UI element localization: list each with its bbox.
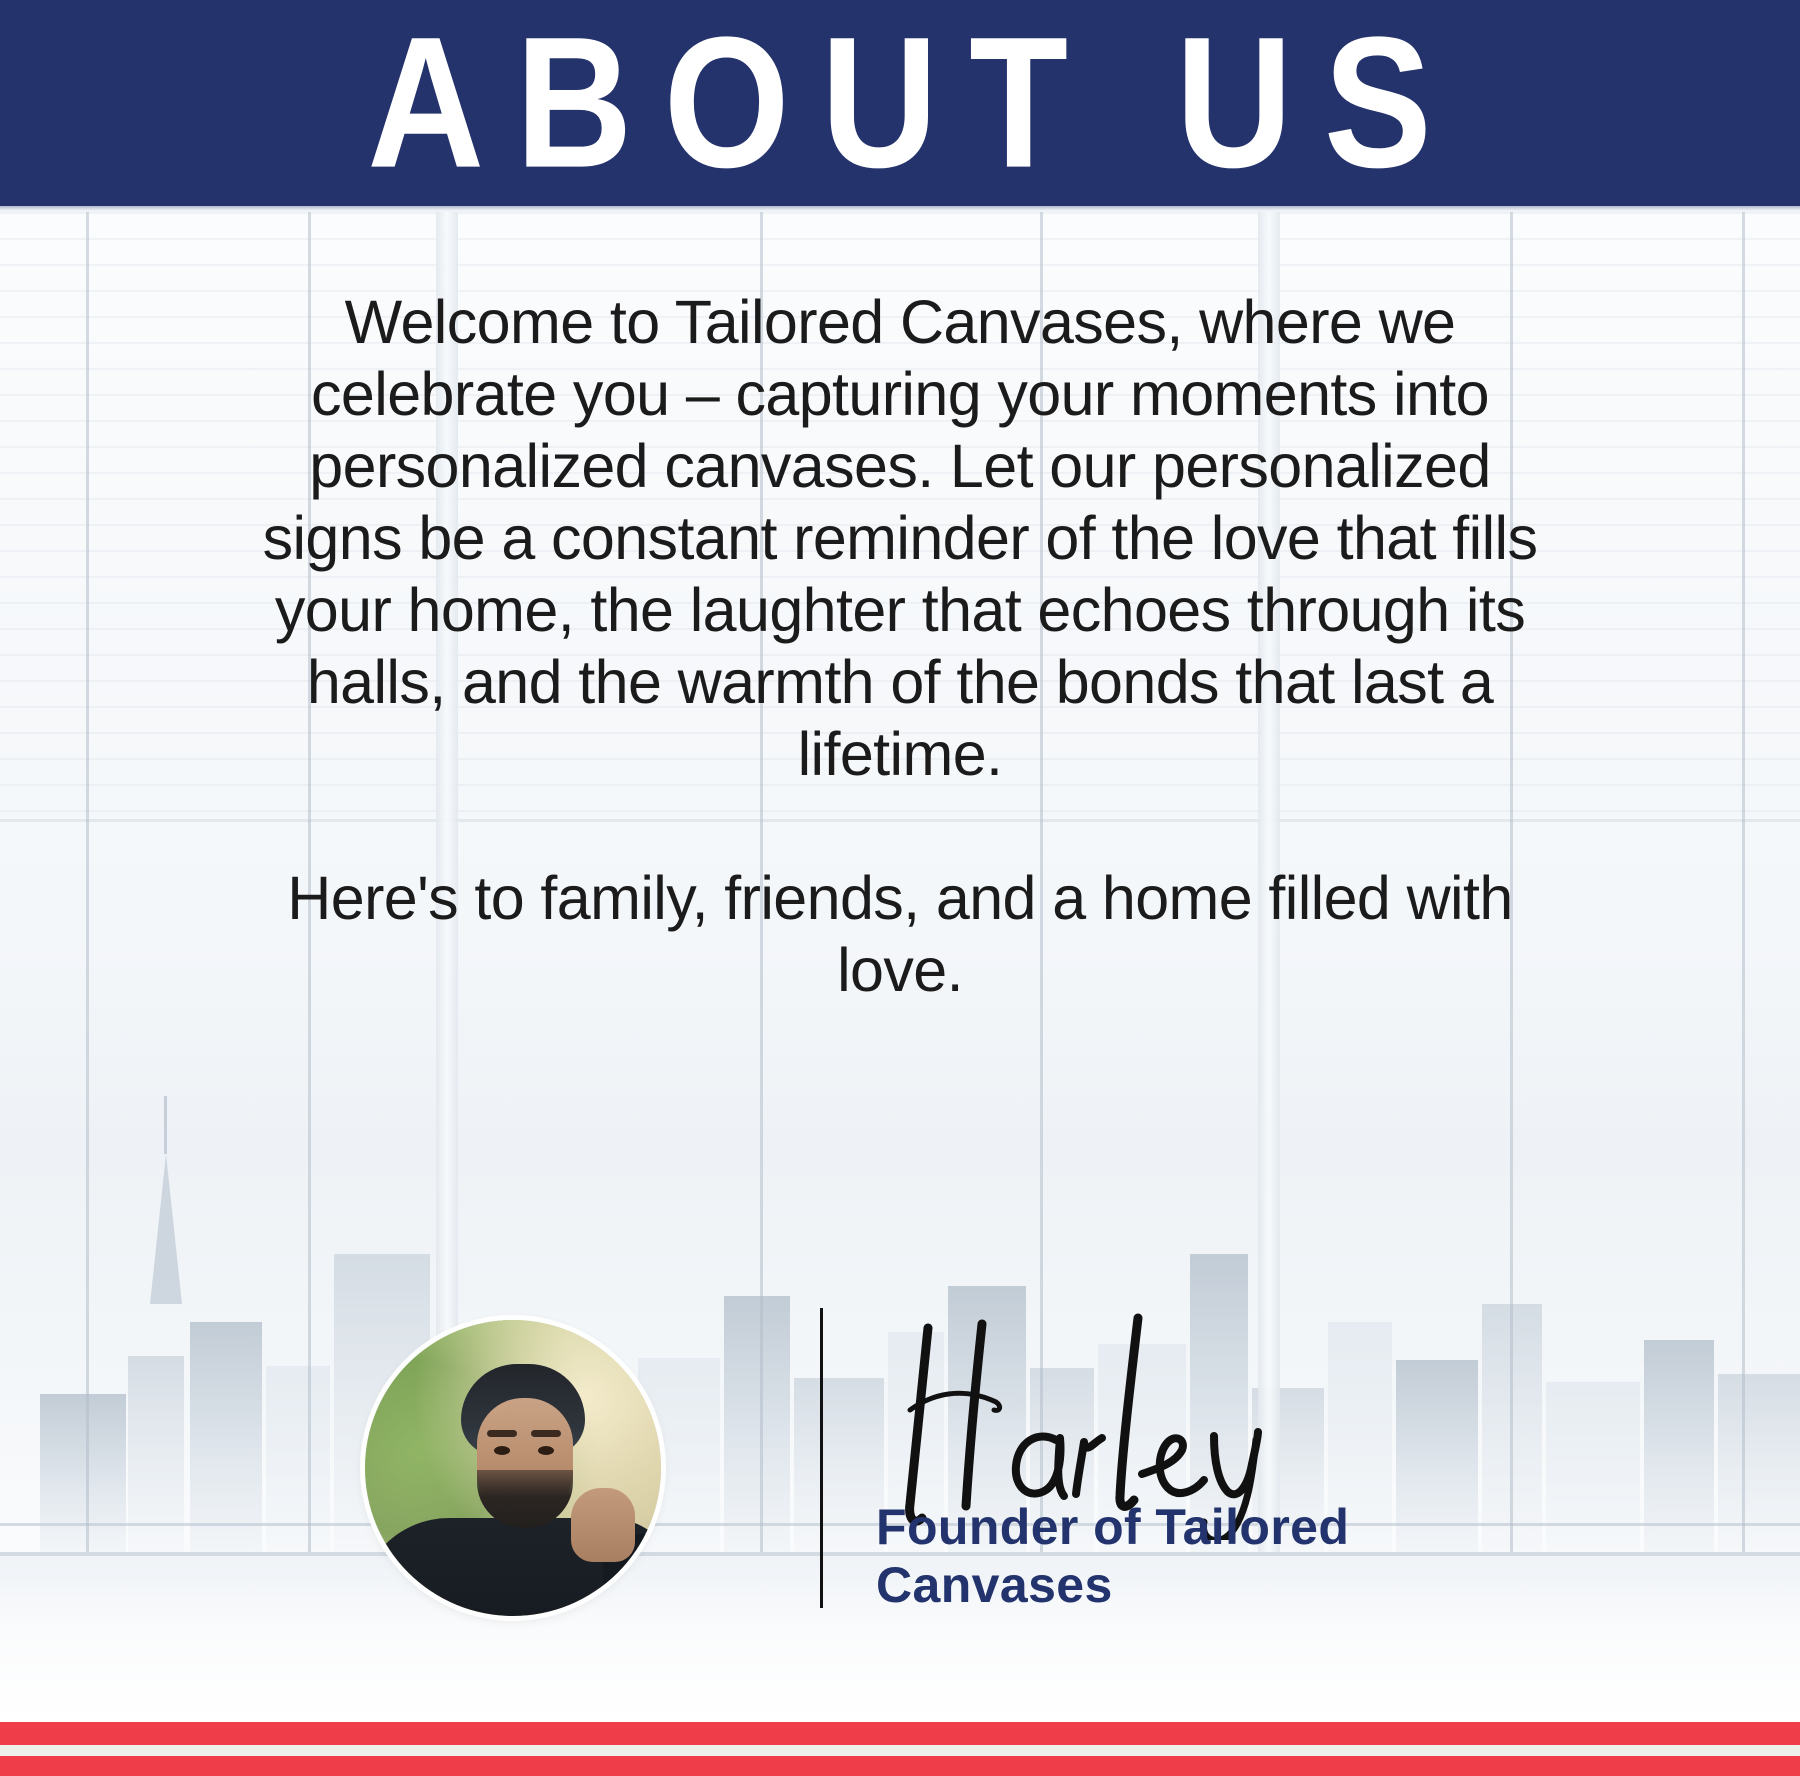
page-title: ABOUT US xyxy=(336,10,1463,197)
header-banner: ABOUT US xyxy=(0,0,1800,206)
pyramid-spire-icon xyxy=(164,1096,167,1154)
footer-stripe-top xyxy=(0,1722,1800,1745)
avatar-hand xyxy=(571,1488,635,1562)
avatar-eye-left xyxy=(494,1446,510,1455)
about-paragraph-2: Here's to family, friends, and a home fi… xyxy=(250,862,1550,1006)
paragraph-spacer xyxy=(250,790,1550,862)
avatar xyxy=(365,1320,661,1616)
founder-role: Founder of Tailored Canvases xyxy=(876,1498,1496,1614)
footer-stripe-bottom xyxy=(0,1756,1800,1776)
avatar-eyebrow-left xyxy=(487,1430,517,1437)
footer-stripe-gap xyxy=(0,1745,1800,1756)
founder-signature-block: Founder of Tailored Canvases xyxy=(0,1300,1800,1630)
avatar-eye-right xyxy=(538,1446,554,1455)
founder-role-line-1: Founder of Tailored xyxy=(876,1498,1496,1556)
about-us-graphic: ABOUT US Welcome to Tailored Canvases, w… xyxy=(0,0,1800,1776)
pyramid-tower-icon xyxy=(150,1154,182,1304)
signature-divider xyxy=(820,1308,823,1608)
founder-role-line-2: Canvases xyxy=(876,1556,1496,1614)
about-paragraph-1: Welcome to Tailored Canvases, where we c… xyxy=(250,286,1550,790)
avatar-eyebrow-right xyxy=(531,1430,561,1437)
about-copy: Welcome to Tailored Canvases, where we c… xyxy=(250,286,1550,1006)
header-underline xyxy=(0,206,1800,212)
